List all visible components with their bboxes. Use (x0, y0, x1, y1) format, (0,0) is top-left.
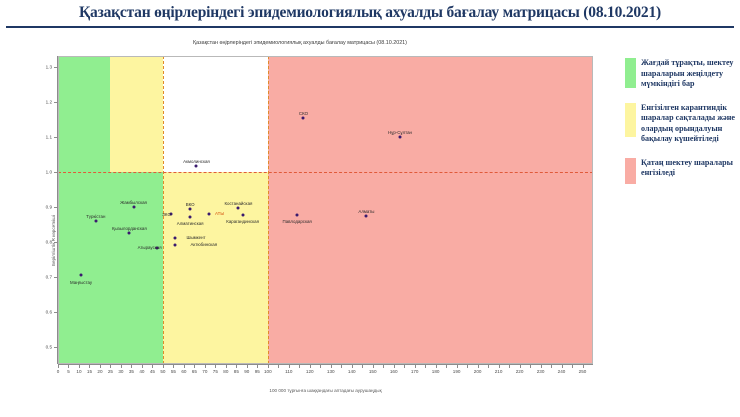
x-tick (509, 364, 510, 368)
x-tick-label: 250 (579, 369, 587, 374)
legend-item: Жағдай тұрақты, шектеу шараларын жеңілде… (625, 58, 737, 90)
x-tick (488, 364, 489, 368)
x-tick (268, 364, 269, 368)
x-tick (362, 364, 363, 368)
x-tick-label: 190 (453, 369, 461, 374)
x-tick (310, 364, 311, 368)
legend-swatch (625, 158, 636, 184)
x-tick-label: 120 (306, 369, 314, 374)
x-tick (562, 364, 563, 368)
legend-label: Енгізілген карантиндік шаралар сақталады… (641, 103, 737, 145)
zone-green-upper (58, 56, 110, 172)
x-tick (89, 364, 90, 368)
legend-item: Қатаң шектеу шаралары енгізіледі (625, 158, 737, 184)
data-point-label: Атырауская (138, 245, 162, 250)
x-tick-label: 230 (537, 369, 545, 374)
x-tick-label: 55 (171, 369, 176, 374)
x-tick (467, 364, 468, 368)
x-axis-label: 100 000 тұрғынға шаққандағы аптадағы аур… (58, 388, 593, 393)
y-tick-label: 1.3 (46, 64, 52, 69)
data-point-label: Маңғыстау (70, 280, 92, 285)
x-tick (278, 364, 279, 368)
x-tick (341, 364, 342, 368)
data-point-label: ВКО (186, 202, 195, 207)
y-tick (54, 67, 58, 68)
x-tick-label: 20 (97, 369, 102, 374)
data-point-label: Алматинская (177, 221, 204, 226)
zone-green (58, 172, 163, 365)
x-tick-label: 5 (67, 369, 70, 374)
x-tick (404, 364, 405, 368)
data-point-label: СКО (299, 111, 308, 116)
data-point (237, 207, 240, 210)
x-tick (236, 364, 237, 368)
data-point-label: ЗКО (162, 212, 171, 217)
y-tick (54, 277, 58, 278)
x-tick-label: 140 (348, 369, 356, 374)
x-tick (215, 364, 216, 368)
x-tick (205, 364, 206, 368)
x-tick (583, 364, 584, 368)
threshold-line-incidence_low (163, 56, 164, 364)
x-tick (110, 364, 111, 368)
x-tick (373, 364, 374, 368)
x-tick-label: 60 (181, 369, 186, 374)
x-tick-label: 10 (76, 369, 81, 374)
y-axis-label: Берілгіштік R көрсеткіші (51, 215, 56, 266)
data-point (195, 165, 198, 168)
x-tick (131, 364, 132, 368)
title-underline (6, 26, 734, 28)
x-tick-label: 0 (57, 369, 60, 374)
data-point (80, 273, 83, 276)
x-tick (331, 364, 332, 368)
data-point-label: Карагандинская (226, 219, 259, 224)
legend-swatch (625, 58, 636, 88)
data-point (174, 237, 177, 240)
x-tick (79, 364, 80, 368)
x-tick (446, 364, 447, 368)
legend-swatch (625, 103, 636, 137)
x-axis: 0510152025303540455055606570758085909510… (58, 364, 593, 365)
x-tick (257, 364, 258, 368)
data-point (189, 207, 192, 210)
x-tick (499, 364, 500, 368)
data-point-label: Түркістан (86, 214, 105, 219)
chart-title: Қазақстан өңірлеріндегі эпидемиологиялық… (0, 40, 600, 46)
x-tick (100, 364, 101, 368)
x-tick-label: 180 (432, 369, 440, 374)
x-tick (121, 364, 122, 368)
y-axis: 0.50.60.70.80.91.01.11.21.3 Берілгіштік … (57, 56, 58, 364)
y-tick-label: 0.7 (46, 274, 52, 279)
data-point-label: Нұр-Сұлтан (388, 130, 412, 135)
x-tick (152, 364, 153, 368)
x-tick (457, 364, 458, 368)
data-point-label: Павлодарская (283, 219, 312, 224)
x-tick (436, 364, 437, 368)
x-tick (226, 364, 227, 368)
x-tick-label: 80 (223, 369, 228, 374)
x-tick (478, 364, 479, 368)
x-tick-label: 170 (411, 369, 419, 374)
data-point (296, 214, 299, 217)
data-point-label: Қызылорданская (112, 226, 147, 231)
x-tick-label: 35 (129, 369, 134, 374)
x-tick (394, 364, 395, 368)
x-tick-label: 50 (160, 369, 165, 374)
data-point (398, 136, 401, 139)
x-tick (289, 364, 290, 368)
data-point-label: Жамбылская (120, 200, 147, 205)
legend-item: Енгізілген карантиндік шаралар сақталады… (625, 103, 737, 145)
data-point (208, 212, 211, 215)
zone-red (268, 56, 593, 364)
data-point (241, 214, 244, 217)
legend-label: Қатаң шектеу шаралары енгізіледі (641, 158, 737, 179)
x-tick (184, 364, 185, 368)
x-tick-label: 45 (150, 369, 155, 374)
x-tick-label: 100 (264, 369, 272, 374)
data-point (94, 220, 97, 223)
x-tick-label: 75 (213, 369, 218, 374)
legend-label: Жағдай тұрақты, шектеу шараларын жеңілде… (641, 58, 737, 90)
x-tick (541, 364, 542, 368)
data-point-label: Акмолинская (183, 159, 210, 164)
x-tick-label: 110 (285, 369, 292, 374)
data-point (365, 215, 368, 218)
x-tick (299, 364, 300, 368)
x-tick-label: 65 (192, 369, 197, 374)
page-title: Қазақстан өңірлеріндегі эпидемиологиялық… (0, 4, 740, 22)
data-point (132, 205, 135, 208)
data-point-label: АТЫ (215, 211, 224, 216)
zone-yellow-upper (110, 56, 162, 172)
x-tick (572, 364, 573, 368)
x-tick-label: 220 (516, 369, 524, 374)
threshold-line-incidence_high (268, 56, 269, 364)
data-point-label: Шымкент (186, 235, 205, 240)
x-tick (520, 364, 521, 368)
x-tick (173, 364, 174, 368)
y-tick (54, 137, 58, 138)
x-tick-label: 200 (474, 369, 482, 374)
x-tick-label: 240 (558, 369, 566, 374)
x-tick (320, 364, 321, 368)
y-tick-label: 0.6 (46, 309, 52, 314)
y-tick-label: 1.2 (46, 99, 52, 104)
x-tick (247, 364, 248, 368)
plot-area: МаңғыстауТүркістанҚызылорданскаяЖамбылск… (58, 56, 593, 364)
x-tick-label: 150 (369, 369, 377, 374)
x-tick-label: 25 (108, 369, 113, 374)
y-tick (54, 172, 58, 173)
x-tick (58, 364, 59, 368)
y-tick (54, 207, 58, 208)
x-tick-label: 30 (118, 369, 123, 374)
x-tick-label: 70 (202, 369, 207, 374)
x-tick (194, 364, 195, 368)
legend: Жағдай тұрақты, шектеу шараларын жеңілде… (625, 58, 737, 197)
x-tick-label: 160 (390, 369, 398, 374)
x-tick (352, 364, 353, 368)
data-point-label: Костанайская (224, 201, 252, 206)
y-tick-label: 1.0 (46, 169, 52, 174)
x-tick-label: 130 (327, 369, 335, 374)
x-tick (530, 364, 531, 368)
y-tick-label: 0.9 (46, 204, 52, 209)
x-tick-label: 90 (244, 369, 249, 374)
x-tick (383, 364, 384, 368)
x-tick (415, 364, 416, 368)
y-tick-label: 0.5 (46, 344, 52, 349)
data-point (302, 117, 305, 120)
data-point (128, 232, 131, 235)
data-point-label: Алматы (358, 209, 374, 214)
x-tick-label: 85 (234, 369, 239, 374)
data-point (189, 216, 192, 219)
x-tick (425, 364, 426, 368)
x-tick (551, 364, 552, 368)
y-tick (54, 102, 58, 103)
x-tick (163, 364, 164, 368)
y-tick (54, 347, 58, 348)
y-tick (54, 312, 58, 313)
x-tick-label: 210 (495, 369, 503, 374)
x-tick-label: 15 (87, 369, 92, 374)
threshold-line-r (58, 172, 593, 173)
data-point (174, 244, 177, 247)
x-tick (68, 364, 69, 368)
x-tick-label: 40 (139, 369, 144, 374)
x-tick-label: 95 (255, 369, 260, 374)
x-tick (142, 364, 143, 368)
y-tick-label: 1.1 (46, 134, 52, 139)
data-point-label: Актюбинская (190, 242, 217, 247)
